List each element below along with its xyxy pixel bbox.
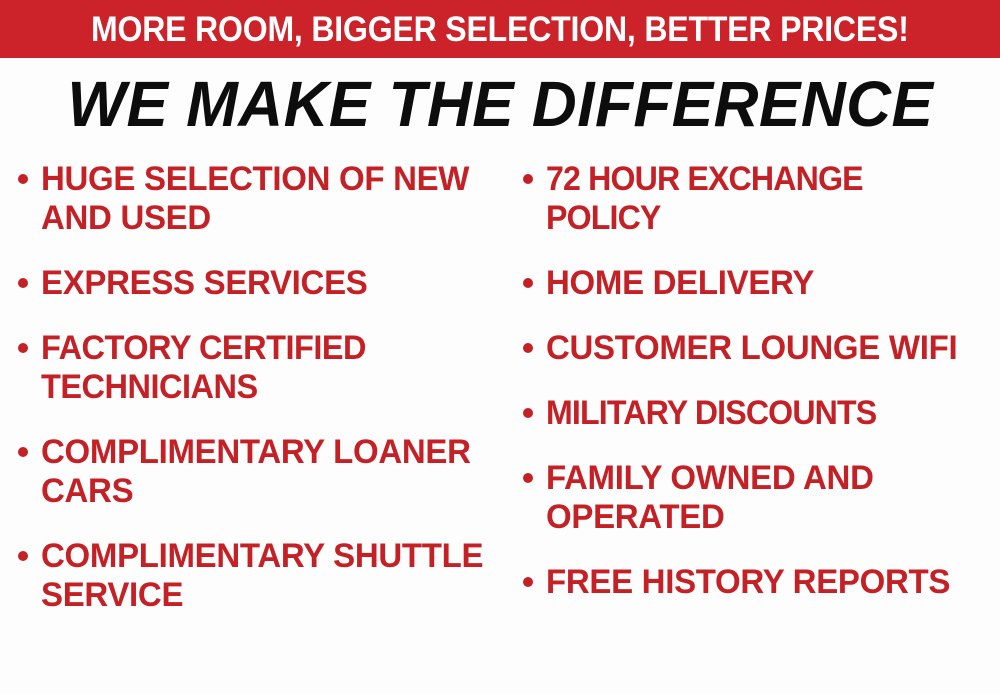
bullet-dot-icon (18, 278, 28, 288)
list-item: FAMILY OWNED AND OPERATED (523, 459, 998, 537)
bullet-dot-icon (523, 174, 533, 184)
list-item-label: 72 HOUR EXCHANGE POLICY (546, 160, 973, 238)
headline-container: WE MAKE THE DIFFERENCE (0, 72, 1000, 136)
features-columns: HUGE SELECTION OF NEW AND USED EXPRESS S… (0, 160, 1000, 680)
list-item: 72 HOUR EXCHANGE POLICY (523, 160, 998, 238)
list-item: HOME DELIVERY (523, 264, 998, 303)
list-item-label: COMPLIMENTARY SHUTTLE SERVICE (41, 537, 485, 615)
bullet-dot-icon (523, 343, 533, 353)
list-item: FACTORY CERTIFIED TECHNICIANS (18, 329, 499, 407)
list-item-label: MILITARY DISCOUNTS (546, 394, 973, 433)
header-tagline: MORE ROOM, BIGGER SELECTION, BETTER PRIC… (91, 12, 909, 47)
page-title: WE MAKE THE DIFFERENCE (67, 72, 933, 136)
list-item-label: COMPLIMENTARY LOANER CARS (41, 433, 485, 511)
list-item-label: EXPRESS SERVICES (41, 264, 485, 303)
bullet-dot-icon (18, 343, 28, 353)
promotional-banner: MORE ROOM, BIGGER SELECTION, BETTER PRIC… (0, 0, 1000, 694)
bullet-dot-icon (523, 473, 533, 483)
features-column-right: 72 HOUR EXCHANGE POLICY HOME DELIVERY CU… (505, 160, 1000, 628)
list-item-label: FREE HISTORY REPORTS (546, 563, 984, 602)
bullet-dot-icon (18, 551, 28, 561)
bullet-dot-icon (18, 174, 28, 184)
list-item: COMPLIMENTARY SHUTTLE SERVICE (18, 537, 499, 615)
bullet-dot-icon (523, 408, 533, 418)
list-item: EXPRESS SERVICES (18, 264, 499, 303)
bullet-dot-icon (18, 447, 28, 457)
list-item-label: HOME DELIVERY (546, 264, 984, 303)
list-item-label: HUGE SELECTION OF NEW AND USED (41, 160, 485, 238)
list-item: CUSTOMER LOUNGE WIFI (523, 329, 998, 368)
header-banner-band: MORE ROOM, BIGGER SELECTION, BETTER PRIC… (0, 0, 1000, 58)
features-column-left: HUGE SELECTION OF NEW AND USED EXPRESS S… (0, 160, 505, 641)
list-item-label: FAMILY OWNED AND OPERATED (546, 459, 984, 537)
list-item-label: FACTORY CERTIFIED TECHNICIANS (41, 329, 478, 407)
list-item-label: CUSTOMER LOUNGE WIFI (546, 329, 984, 368)
list-item: COMPLIMENTARY LOANER CARS (18, 433, 499, 511)
list-item: FREE HISTORY REPORTS (523, 563, 998, 602)
bullet-dot-icon (523, 278, 533, 288)
list-item: MILITARY DISCOUNTS (523, 394, 998, 433)
bullet-dot-icon (523, 577, 533, 587)
list-item: HUGE SELECTION OF NEW AND USED (18, 160, 499, 238)
